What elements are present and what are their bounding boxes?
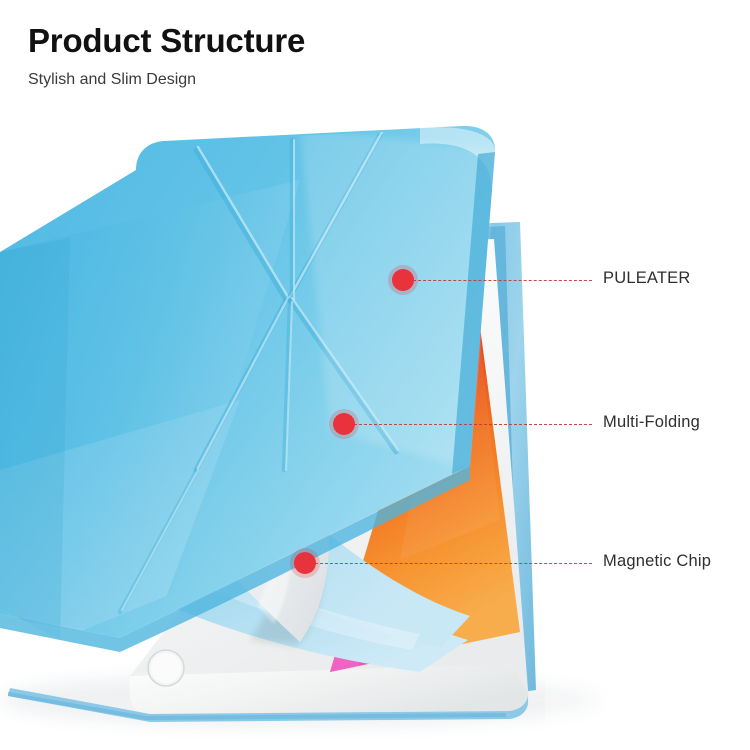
callout-leader-line — [403, 280, 592, 281]
callout-label-puleater: PULEATER — [603, 269, 690, 288]
callout-label-multi-folding: Multi-Folding — [603, 413, 700, 432]
callout-marker-dot[interactable] — [333, 413, 355, 435]
product-illustration: 63% — [0, 0, 750, 750]
product-structure-infographic: Product Structure Stylish and Slim Desig… — [0, 0, 750, 750]
callout-label-magnetic-chip: Magnetic Chip — [603, 552, 711, 571]
callout-marker-dot[interactable] — [294, 552, 316, 574]
home-button — [147, 649, 185, 687]
callout-marker-dot[interactable] — [392, 269, 414, 291]
callout-leader-line — [344, 424, 592, 425]
callout-leader-line — [305, 563, 592, 564]
